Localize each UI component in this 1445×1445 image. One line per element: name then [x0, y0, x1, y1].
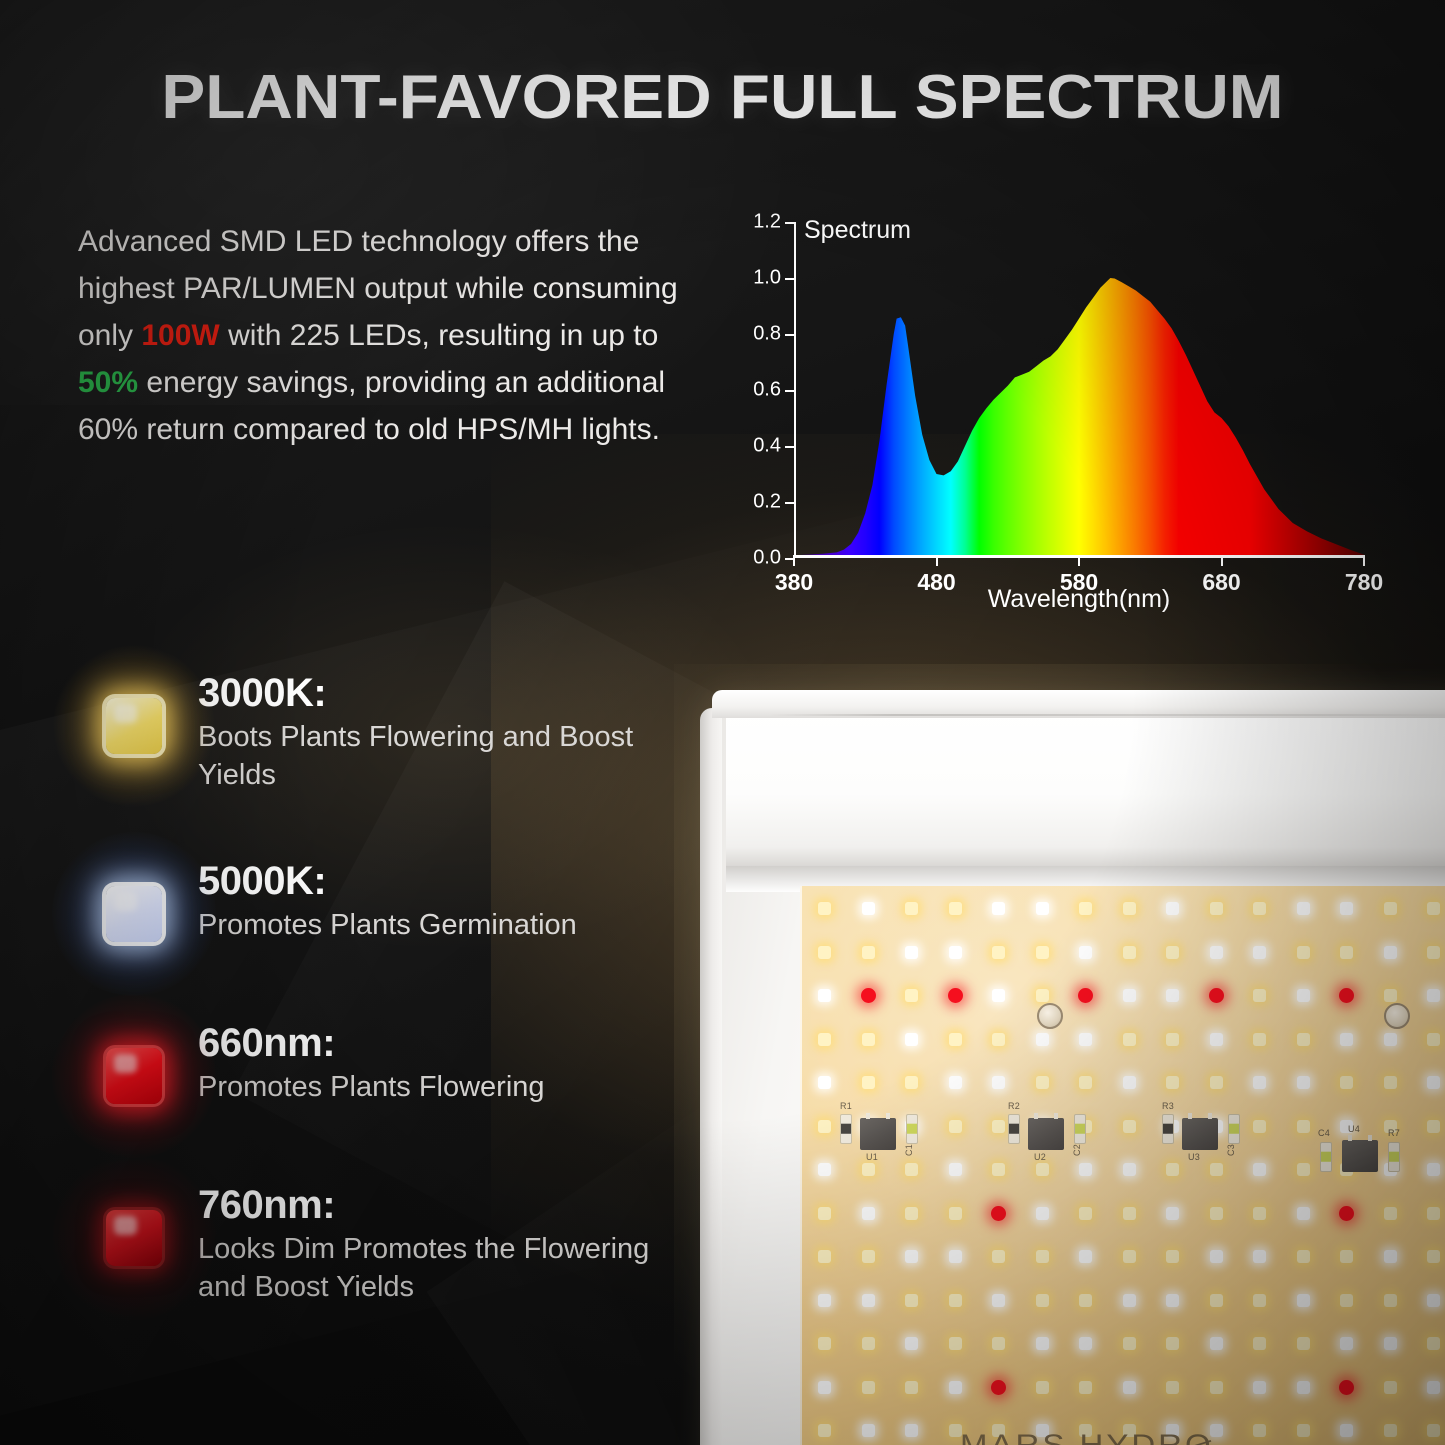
background-vignette [0, 0, 1445, 1445]
